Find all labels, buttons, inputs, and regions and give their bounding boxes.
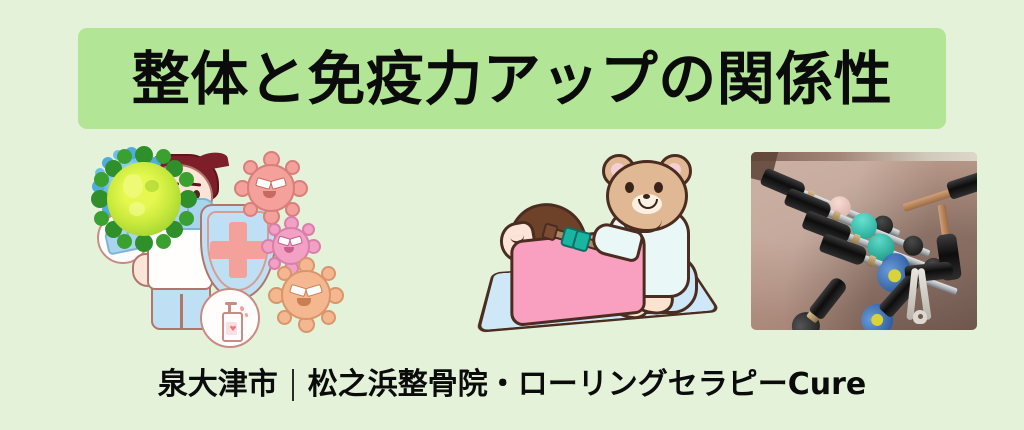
shield-cross-horizontal xyxy=(210,241,266,259)
fork-hole xyxy=(918,314,923,319)
photo-background-strip xyxy=(751,152,977,161)
sanitizer-bottle xyxy=(222,312,243,342)
boy-hair-swoop xyxy=(193,150,229,172)
therapy-tool-disc xyxy=(786,272,856,330)
footer-location: 泉大津市 xyxy=(158,368,278,401)
therapy-tool-fork xyxy=(907,268,933,324)
sanitizer-pump xyxy=(225,302,237,305)
sanitizer-droplet xyxy=(239,305,245,311)
footer-credit-line: 泉大津市 松之浜整骨院・ローリングセラピーCure xyxy=(0,368,1024,401)
page-title: 整体と免疫力アップの関係性 xyxy=(132,50,893,108)
footer-clinic-name: 松之浜整骨院・ローリングセラピーCure xyxy=(308,368,867,401)
bear-coat-collar xyxy=(622,214,662,233)
shorts-seam xyxy=(180,294,183,328)
footer-divider xyxy=(292,369,294,401)
virus-character-pink xyxy=(241,158,297,214)
bear-therapist-illustration xyxy=(480,150,730,345)
title-banner: 整体と免疫力アップの関係性 xyxy=(78,28,946,129)
virus-character-orange xyxy=(275,264,333,322)
rolling-therapy-tools-photo xyxy=(751,152,977,330)
hand-sanitizer-badge-icon xyxy=(200,288,260,348)
bear-eye-left xyxy=(625,182,634,193)
blog-header-banner: 整体と免疫力アップの関係性 xyxy=(0,0,1024,430)
boy-with-shield-illustration xyxy=(95,150,345,345)
bear-eye-right xyxy=(654,182,663,193)
sanitizer-droplet xyxy=(244,313,249,318)
sanitizer-label xyxy=(226,322,237,335)
heart-icon xyxy=(230,325,236,331)
